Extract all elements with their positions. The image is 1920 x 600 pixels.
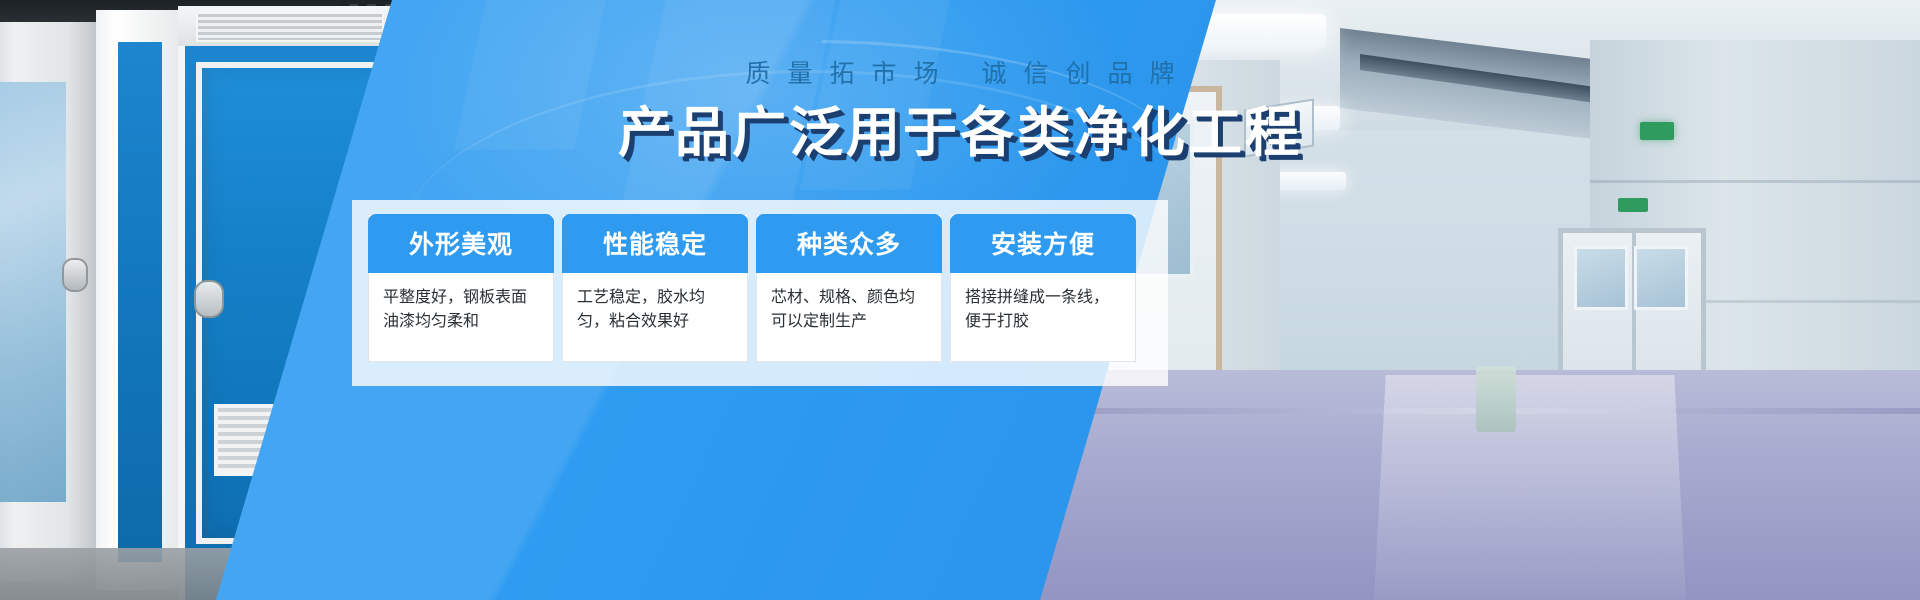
corridor-cart — [1476, 366, 1516, 432]
headline-block: 质量拓市场诚信创品牌 产品广泛用于各类净化工程 — [0, 62, 1920, 162]
feature-card-3[interactable]: 种类众多 芯材、规格、颜色均可以定制生产 — [756, 214, 942, 362]
cabin-door-lock — [194, 280, 224, 318]
cabin-handle-a — [62, 258, 88, 292]
feature-card-2-body: 工艺稳定，胶水均匀，粘合效果好 — [563, 273, 747, 361]
promo-banner: EXIT 质量拓市场诚信创品牌 产品广泛用于各类净化工程 外形美观 平整度好，钢… — [0, 0, 1920, 600]
feature-card-4-title: 安装方便 — [950, 214, 1136, 273]
cabin-top-vent — [196, 12, 384, 42]
banner-subtitle: 质量拓市场诚信创品牌 — [0, 62, 1920, 87]
feature-card-1-title: 外形美观 — [368, 214, 554, 273]
exit-sign-icon — [1618, 198, 1648, 212]
feature-card-3-title: 种类众多 — [756, 214, 942, 273]
feature-card-2-title: 性能稳定 — [562, 214, 748, 273]
floor-reflection — [1374, 375, 1687, 600]
end-door-window-right — [1634, 246, 1688, 310]
feature-card-3-body: 芯材、规格、颜色均可以定制生产 — [757, 273, 941, 361]
wall-panel-seam-1 — [1590, 180, 1920, 183]
feature-card-4-body: 搭接拼缝成一条线，便于打胶 — [951, 273, 1135, 361]
end-door-window-left — [1574, 246, 1628, 310]
subtitle-part-right: 诚信创品牌 — [982, 60, 1192, 88]
feature-card-1-body: 平整度好，钢板表面油漆均匀柔和 — [369, 273, 553, 361]
feature-card-2[interactable]: 性能稳定 工艺稳定，胶水均匀，粘合效果好 — [562, 214, 748, 362]
banner-headline: 产品广泛用于各类净化工程 — [0, 104, 1920, 162]
feature-card-4[interactable]: 安装方便 搭接拼缝成一条线，便于打胶 — [950, 214, 1136, 362]
feature-cards-panel: 外形美观 平整度好，钢板表面油漆均匀柔和 性能稳定 工艺稳定，胶水均匀，粘合效果… — [352, 200, 1168, 386]
subtitle-part-left: 质量拓市场 — [745, 60, 955, 88]
feature-card-1[interactable]: 外形美观 平整度好，钢板表面油漆均匀柔和 — [368, 214, 554, 362]
